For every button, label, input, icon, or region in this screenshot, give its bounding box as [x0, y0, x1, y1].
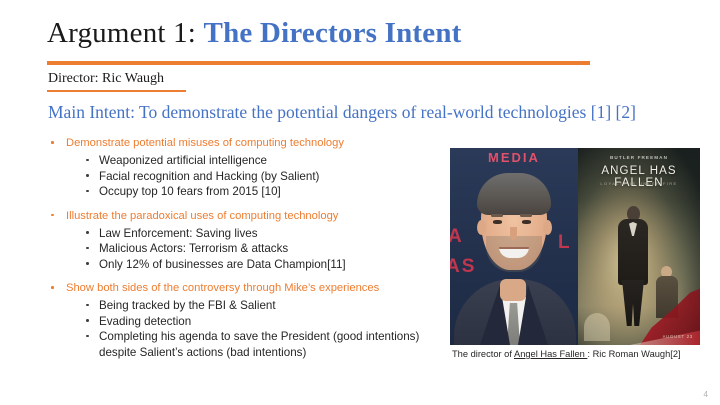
eyebrow-right: [520, 214, 532, 217]
sub-bullet-label: Being tracked by the FBI & Salient: [99, 299, 276, 312]
bullet-heading: Illustrate the paradoxical uses of compu…: [44, 209, 434, 224]
page-title: Argument 1: The Directors Intent: [47, 16, 462, 50]
sub-bullet-dot-icon: [86, 319, 89, 322]
director-label: Director: Ric Waugh: [48, 70, 164, 88]
backdrop-fragment-l: L: [558, 232, 572, 254]
poster-release-date: AUGUST 23: [663, 334, 693, 339]
sub-bullet-item: Completing his agenda to save the Presid…: [44, 329, 434, 360]
bullet-group: Show both sides of the controversy throu…: [44, 281, 434, 360]
bullet-heading-label: Show both sides of the controversy throu…: [66, 282, 379, 294]
sub-bullet-dot-icon: [86, 247, 89, 250]
eye-right: [522, 220, 531, 224]
ear-left: [477, 220, 486, 235]
slide-canvas: Argument 1: The Directors Intent Directo…: [0, 0, 720, 405]
eyebrow-left: [491, 214, 503, 217]
hair: [477, 173, 551, 215]
caption-prefix: The director of: [452, 349, 514, 359]
sub-bullet-item: Evading detection: [44, 314, 434, 330]
bullet-group: Illustrate the paradoxical uses of compu…: [44, 209, 434, 273]
director-divider: [47, 90, 186, 92]
sub-bullet-label: Evading detection: [99, 315, 191, 328]
sub-bullet-dot-icon: [86, 174, 89, 177]
sub-bullet-label: Malicious Actors: Terrorism & attacks: [99, 242, 288, 255]
hero-legs: [622, 280, 644, 326]
poster-tagline-text: LOYALTY IS UNDER FIRE: [578, 181, 700, 186]
capitol-dome: [584, 313, 610, 341]
title-prefix: Argument 1:: [47, 17, 204, 49]
sub-bullet-item: Malicious Actors: Terrorism & attacks: [44, 241, 434, 257]
sub-bullet-item: Being tracked by the FBI & Salient: [44, 298, 434, 314]
sub-bullet-dot-icon: [86, 304, 89, 307]
bullet-content: Demonstrate potential misuses of computi…: [44, 136, 434, 360]
bullet-heading: Demonstrate potential misuses of computi…: [44, 136, 434, 151]
sub-bullet-item: Facial recognition and Hacking (by Salie…: [44, 169, 434, 185]
bullet-group: Demonstrate potential misuses of computi…: [44, 136, 434, 200]
nose: [510, 227, 517, 240]
sub-bullet-item: Law Enforcement: Saving lives: [44, 226, 434, 242]
sub-bullet-dot-icon: [86, 335, 89, 338]
movie-poster: BUTLER FREEMAN ANGEL HAS FALLEN LOYALTY …: [578, 148, 700, 345]
eye-left: [493, 220, 502, 224]
title-accent: The Directors Intent: [204, 17, 462, 49]
sub-bullet-item: Occupy top 10 fears from 2015 [10]: [44, 184, 434, 200]
sub-bullet-dot-icon: [86, 159, 89, 162]
neck: [500, 279, 526, 301]
caption-film-title: Angel Has Fallen: [514, 349, 587, 359]
sub-bullet-dot-icon: [86, 262, 89, 265]
poster-credits-text: BUTLER FREEMAN: [578, 155, 700, 160]
sub-bullet-dot-icon: [86, 190, 89, 193]
bullet-dot-icon: [51, 141, 54, 144]
bullet-dot-icon: [51, 214, 54, 217]
sub-bullet-list: Law Enforcement: Saving lives Malicious …: [44, 226, 434, 273]
sub-bullet-label: Occupy top 10 fears from 2015 [10]: [99, 185, 281, 198]
main-intent-text: Main Intent: To demonstrate the potentia…: [48, 101, 636, 123]
caption-suffix: : Ric Roman Waugh[2]: [587, 349, 680, 359]
sub-bullet-list: Being tracked by the FBI & Salient Evadi…: [44, 298, 434, 360]
sub-bullet-list: Weaponized artificial intelligence Facia…: [44, 153, 434, 200]
sub-bullet-label: Completing his agenda to save the Presid…: [99, 330, 419, 359]
title-divider: [47, 61, 590, 65]
backdrop-fragment-a: A: [450, 226, 464, 248]
poster-hero-figure: [616, 206, 650, 324]
sub-bullet-label: Facial recognition and Hacking (by Salie…: [99, 170, 319, 183]
bullet-dot-icon: [51, 286, 54, 289]
page-number: 4: [704, 390, 708, 399]
ear-right: [543, 220, 552, 235]
bullet-heading: Show both sides of the controversy throu…: [44, 281, 434, 296]
backdrop-media-text: MEDIA: [488, 150, 540, 165]
bullet-heading-label: Illustrate the paradoxical uses of compu…: [66, 210, 338, 222]
sub-bullet-label: Weaponized artificial intelligence: [99, 154, 267, 167]
bullet-heading-label: Demonstrate potential misuses of computi…: [66, 137, 344, 149]
sub-bullet-label: Only 12% of businesses are Data Champion…: [99, 258, 346, 271]
sub-bullet-item: Only 12% of businesses are Data Champion…: [44, 257, 434, 273]
sub-bullet-label: Law Enforcement: Saving lives: [99, 227, 258, 240]
sub-bullet-dot-icon: [86, 231, 89, 234]
backdrop-fragment-as: AS: [450, 256, 476, 278]
figure-caption: The director of Angel Has Fallen : Ric R…: [452, 348, 692, 361]
director-photo: MEDIA A AS L: [450, 148, 578, 345]
figure-images: MEDIA A AS L: [450, 148, 700, 345]
sub-bullet-item: Weaponized artificial intelligence: [44, 153, 434, 169]
